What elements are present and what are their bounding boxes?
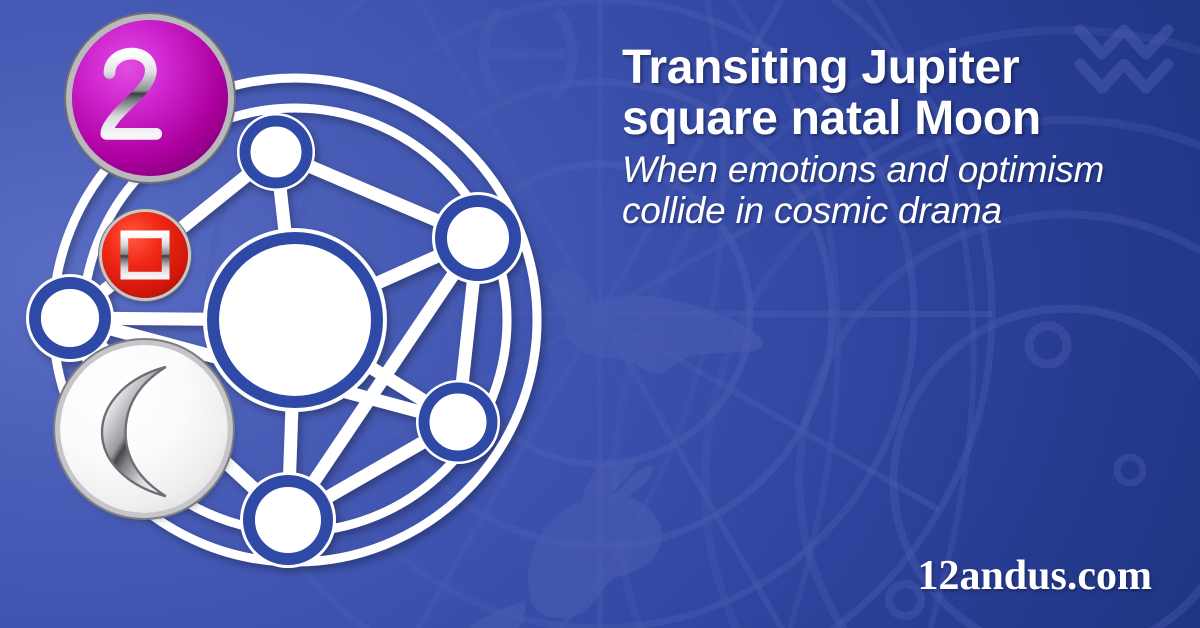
page-subtitle: When emotions and optimism collide in co…: [622, 149, 1167, 232]
title-line-1: Transiting Jupiter: [622, 41, 1019, 94]
page-title: Transiting Jupiter square natal Moon: [622, 42, 1167, 145]
node-top: [237, 113, 315, 191]
jupiter-glyph: [72, 20, 228, 176]
taurus-symbol: [551, 267, 763, 373]
copy-block: Transiting Jupiter square natal Moon Whe…: [622, 42, 1167, 232]
square-aspect-glyph: [102, 212, 188, 298]
node-lower-right: [416, 380, 500, 464]
wheel-hub-disc: [221, 246, 369, 394]
moon-badge: [60, 345, 228, 513]
node-bottom: [240, 472, 336, 568]
poster-canvas: Transiting Jupiter square natal Moon Whe…: [0, 0, 1200, 628]
jupiter-badge: [72, 20, 228, 176]
square-aspect-badge: [102, 212, 188, 298]
node-upper-right: [432, 192, 524, 284]
moon-glyph: [60, 345, 228, 513]
title-line-2: square natal Moon: [622, 92, 1041, 145]
brand-url: 12andus.com: [917, 552, 1152, 600]
